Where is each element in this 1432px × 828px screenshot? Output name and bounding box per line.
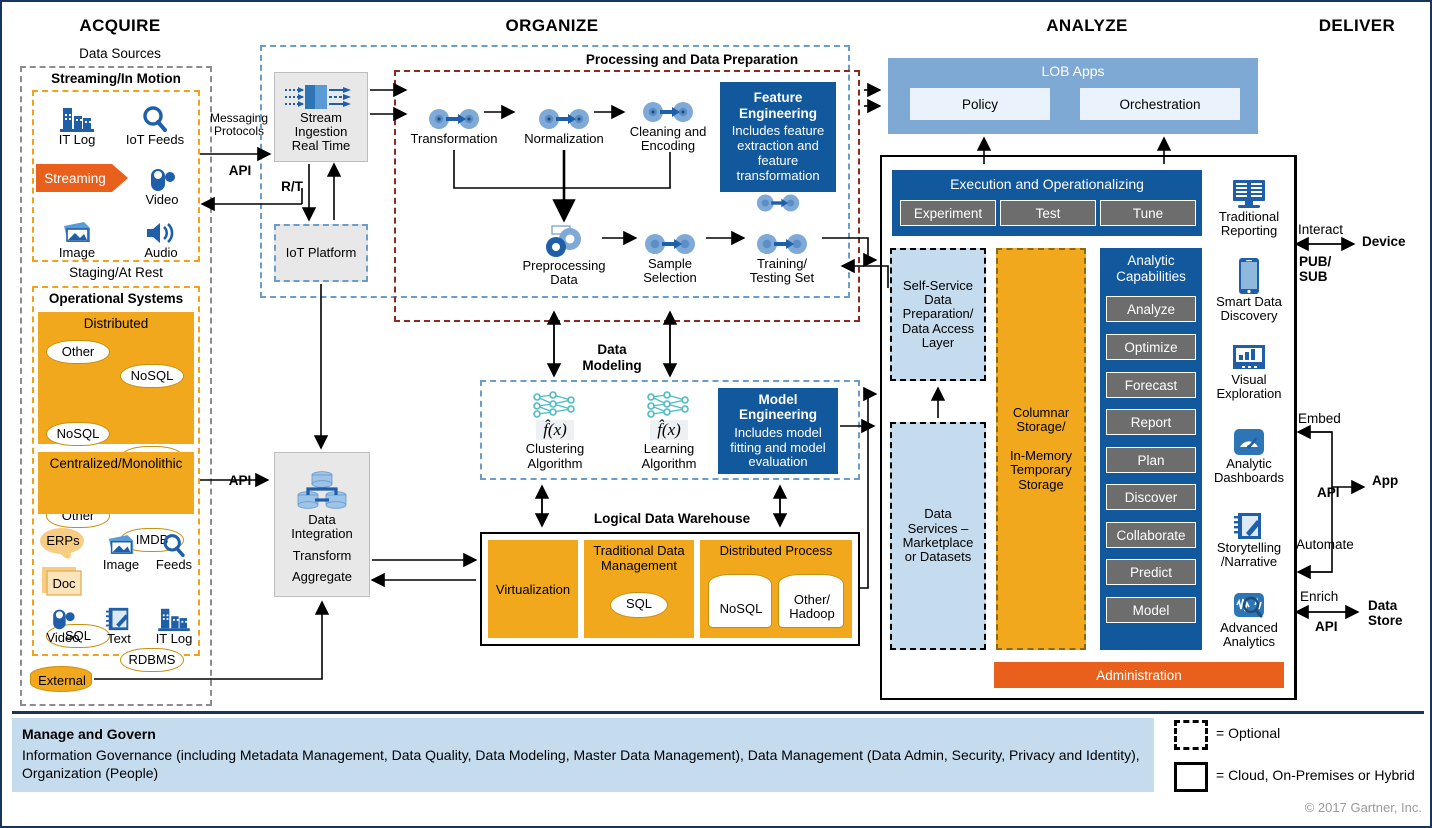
embed-label: Embed (1298, 411, 1368, 429)
data-services-label: Data Services – Marketplace or Datasets (903, 507, 974, 564)
self-service-label: Self-Service Data Preparation/ Data Acce… (902, 279, 974, 350)
text-icon (105, 606, 133, 632)
capability-predict[interactable]: Predict (1106, 559, 1196, 585)
smart-data-discovery-icon (1236, 257, 1262, 295)
phase-header-organize: ORGANIZE (442, 14, 662, 38)
db-ldw-nosql: NoSQL (708, 574, 772, 628)
ldw-traditional-data-management: Traditional Data Management SQL (584, 540, 694, 638)
source-it-log-2: IT Log (148, 600, 200, 652)
manage-and-govern-body: Information Governance (including Metada… (22, 746, 1144, 782)
external-db: External (30, 666, 92, 692)
lob-apps-box: LOB Apps Policy Orchestration (888, 58, 1258, 134)
output-label: Advanced Analytics (1220, 621, 1278, 650)
gears-icon (426, 106, 482, 132)
data-modeling-title: Data Modeling (562, 342, 662, 378)
gears-icon (640, 99, 696, 125)
step-cleaning-and-encoding: Cleaning and Encoding (620, 96, 716, 156)
source-text: Text (94, 600, 144, 652)
feature-engineering-box: Feature Engineering Includes feature ext… (720, 82, 836, 192)
output-label: Traditional Reporting (1219, 210, 1279, 239)
analytic-capabilities-title: Analytic Capabilities (1100, 253, 1202, 284)
source-doc: Doc (38, 564, 86, 596)
source-label: Video (46, 631, 79, 645)
db-ldw-other-hadoop: Other/ Hadoop (778, 574, 844, 628)
feature-engineering-title: Feature Engineering (739, 90, 817, 121)
api-label-app: API (1317, 485, 1357, 503)
analytic-dashboards-icon (1230, 427, 1268, 457)
data-integration-line-2: Transform (293, 549, 352, 563)
source-label: Feeds (156, 558, 192, 572)
administration-bar[interactable]: Administration (994, 662, 1284, 688)
analytic-capabilities-box: Analytic Capabilities Analyze Optimize F… (1100, 248, 1202, 650)
step-label: Preprocessing Data (522, 259, 605, 288)
source-label: IoT Feeds (126, 133, 184, 147)
execution-button-test[interactable]: Test (1000, 200, 1096, 226)
gears-icon (642, 231, 698, 257)
columnar-storage-box: Columnar Storage/ In-Memory Temporary St… (996, 248, 1086, 650)
source-video: Video (132, 158, 192, 214)
step-label: Normalization (524, 132, 603, 146)
output-label: Smart Data Discovery (1216, 295, 1282, 324)
capability-report[interactable]: Report (1106, 409, 1196, 435)
iot-feeds-icon (140, 105, 170, 133)
source-audio: Audio (130, 214, 192, 266)
streaming-badge-label: Streaming (36, 164, 114, 192)
columnar-storage-label: Columnar Storage/ In-Memory Temporary St… (1010, 406, 1072, 492)
step-label: Cleaning and Encoding (630, 125, 707, 154)
legend-optional-swatch (1174, 720, 1208, 750)
source-label: ERPs (38, 530, 88, 550)
it-log-icon (158, 606, 190, 632)
capability-forecast[interactable]: Forecast (1106, 372, 1196, 398)
staging-at-rest-label: Staging/At Rest (24, 264, 208, 282)
visual-exploration-icon (1230, 343, 1268, 373)
source-label: Audio (144, 246, 177, 260)
lob-apps-title: LOB Apps (888, 61, 1258, 81)
neural-net-icon (641, 391, 697, 419)
gears-icon (754, 192, 802, 214)
external-label: External (31, 670, 93, 690)
data-integration-box: Data Integration Transform Aggregate (274, 452, 370, 597)
video-icon (48, 606, 78, 631)
data-integration-line-0: Data (308, 513, 335, 527)
ldw-distributed-process: Distributed Process NoSQL Other/ Hadoop (700, 540, 852, 638)
output-storytelling-narrative: Storytelling /Narrative (1210, 504, 1288, 576)
data-integration-icon (297, 469, 347, 513)
feeds-icon (160, 533, 188, 558)
step-label: Transformation (411, 132, 498, 146)
self-service-box: Self-Service Data Preparation/ Data Acce… (890, 248, 986, 381)
output-advanced-analytics: Advanced Analytics (1210, 586, 1288, 654)
phase-header-acquire: ACQUIRE (30, 14, 210, 38)
gears-icon (536, 106, 592, 132)
execution-button-experiment[interactable]: Experiment (900, 200, 996, 226)
manage-and-govern-panel: Manage and Govern Information Governance… (12, 718, 1154, 792)
ldw-virtualization: Virtualization (488, 540, 578, 638)
source-label: Video (145, 193, 178, 207)
source-label: Image (59, 246, 95, 260)
centralized-title: Centralized/Monolithic (38, 454, 194, 474)
lob-app-policy[interactable]: Policy (910, 88, 1050, 120)
ldw-title: Logical Data Warehouse (532, 511, 812, 529)
model-learning-algorithm: f̂(x) Learning Algorithm (616, 388, 722, 474)
iot-platform-label: IoT Platform (286, 246, 357, 260)
source-label: IT Log (59, 133, 96, 147)
source-iot-feeds: IoT Feeds (120, 98, 190, 154)
distributed-title: Distributed (38, 314, 194, 334)
phase-header-analyze: ANALYZE (987, 14, 1187, 38)
model-clustering-algorithm: f̂(x) Clustering Algorithm (502, 388, 608, 474)
target-data-store: Data Store (1368, 598, 1428, 638)
output-label: Storytelling /Narrative (1217, 541, 1281, 570)
stream-ingestion-label: Stream Ingestion Real Time (292, 111, 351, 154)
source-label: Text (107, 632, 131, 646)
ldw-cell-title: Virtualization (488, 578, 578, 600)
storytelling-narrative-icon (1233, 511, 1265, 541)
manage-and-govern-title: Manage and Govern (22, 726, 1144, 742)
automate-label: Automate (1296, 537, 1376, 555)
legend-cloud-label: = Cloud, On-Premises or Hybrid (1216, 768, 1432, 788)
output-label: Analytic Dashboards (1214, 457, 1284, 486)
source-image-2: Image (94, 526, 148, 580)
capability-collaborate[interactable]: Collaborate (1106, 522, 1196, 548)
output-label: Visual Exploration (1216, 373, 1281, 402)
enrich-label: Enrich (1300, 589, 1370, 607)
streaming-in-motion-title: Streaming/In Motion (24, 70, 208, 88)
capability-optimize[interactable]: Optimize (1106, 334, 1196, 360)
step-sample-selection: Sample Selection (624, 224, 716, 292)
diagram-canvas: ACQUIRE ORGANIZE ANALYZE DELIVER Data So… (0, 0, 1432, 828)
source-it-log: IT Log (46, 98, 108, 154)
output-analytic-dashboards: Analytic Dashboards (1210, 422, 1288, 490)
source-video-2: Video (38, 600, 88, 652)
target-device: Device (1362, 234, 1432, 252)
ldw-cell-title: Distributed Process (700, 544, 852, 559)
video-icon (146, 165, 178, 193)
gears-icon (538, 225, 590, 259)
capability-analyze[interactable]: Analyze (1106, 296, 1196, 322)
phase-header-deliver: DELIVER (1292, 14, 1422, 38)
db-distributed-1: NoSQL (120, 364, 184, 388)
output-visual-exploration: Visual Exploration (1210, 338, 1288, 406)
step-normalization: Normalization (514, 96, 614, 156)
execution-title: Execution and Operationalizing (892, 174, 1202, 194)
step-label: Training/ Testing Set (750, 257, 814, 286)
ldw-cell-title: Traditional Data Management (584, 544, 694, 573)
data-sources-label: Data Sources (30, 45, 210, 63)
capability-plan[interactable]: Plan (1106, 447, 1196, 473)
capability-discover[interactable]: Discover (1106, 484, 1196, 510)
image-icon (105, 533, 137, 558)
api-label-datastore: API (1315, 619, 1355, 637)
data-services-box: Data Services – Marketplace or Datasets (890, 422, 986, 650)
model-label: Clustering Algorithm (526, 442, 585, 471)
neural-net-icon (527, 391, 583, 419)
feature-engineering-gears (754, 192, 802, 214)
step-transformation: Transformation (404, 96, 504, 156)
processing-title: Processing and Data Preparation (532, 52, 852, 70)
clustering-formula: f̂(x) (536, 420, 574, 440)
db-distributed-2: NoSQL (46, 422, 110, 446)
db-ldw-sql: SQL (610, 592, 668, 618)
output-traditional-reporting: Traditional Reporting (1210, 174, 1288, 242)
execution-box: Execution and Operationalizing Experimen… (892, 170, 1202, 236)
feature-engineering-body: Includes feature extraction and feature … (725, 124, 831, 184)
source-erps: ERPs (38, 526, 88, 560)
it-log-icon (60, 105, 94, 133)
image-icon (60, 220, 94, 246)
model-engineering-title: Model Engineering (739, 392, 817, 423)
stream-ingestion-box: Stream Ingestion Real Time (274, 72, 368, 162)
output-smart-data-discovery: Smart Data Discovery (1210, 254, 1288, 326)
gears-icon (754, 231, 810, 257)
api-label-top: API (214, 162, 266, 180)
traditional-reporting-icon (1230, 178, 1268, 210)
api-label-mid: API (214, 472, 266, 490)
learning-formula: f̂(x) (650, 420, 688, 440)
source-feeds: Feeds (150, 526, 198, 580)
copyright: © 2017 Gartner, Inc. (1242, 800, 1422, 818)
step-preprocessing-data: Preprocessing Data (514, 220, 614, 292)
audio-icon (144, 220, 178, 246)
operational-systems-title: Operational Systems (34, 290, 198, 308)
streaming-badge: Streaming (36, 164, 128, 192)
execution-button-tune[interactable]: Tune (1100, 200, 1196, 226)
stream-icon (283, 83, 359, 111)
step-label: Sample Selection (643, 257, 696, 286)
model-engineering-box: Model Engineering Includes model fitting… (718, 388, 838, 474)
iot-platform-box: IoT Platform (274, 224, 368, 282)
db-distributed-0: Other (46, 340, 110, 364)
pub-sub-label: PUB/ SUB (1299, 254, 1347, 288)
advanced-analytics-icon (1230, 591, 1268, 621)
interact-label: Interact (1298, 222, 1368, 240)
step-training-testing-set: Training/ Testing Set (732, 224, 832, 292)
target-app: App (1372, 473, 1422, 491)
footer-divider (12, 711, 1424, 714)
lob-app-orchestration[interactable]: Orchestration (1080, 88, 1240, 120)
data-integration-line-3: Aggregate (292, 570, 352, 584)
source-label: Image (103, 558, 139, 572)
source-image: Image (46, 214, 108, 266)
legend-cloud-swatch (1174, 762, 1208, 792)
capability-model[interactable]: Model (1106, 597, 1196, 623)
model-label: Learning Algorithm (642, 442, 697, 471)
model-engineering-body: Includes model fitting and model evaluat… (723, 426, 833, 471)
legend-optional-label: = Optional (1216, 726, 1416, 746)
source-label: IT Log (156, 632, 193, 646)
source-label: Doc (46, 572, 82, 594)
data-integration-line-1: Integration (291, 527, 352, 541)
